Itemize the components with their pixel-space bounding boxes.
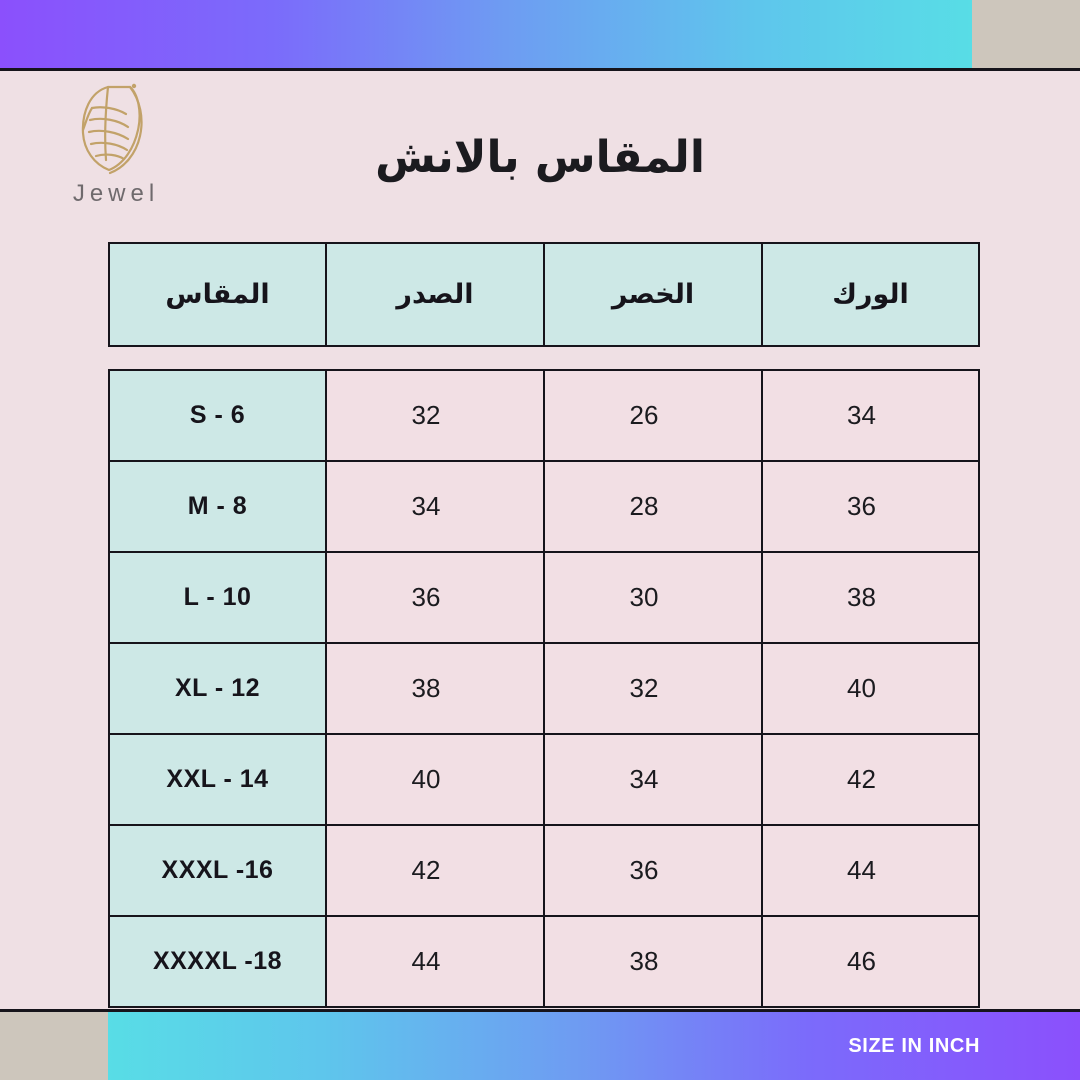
cell-hip-value: 40 [847, 673, 876, 704]
top-gradient-bar [0, 0, 972, 68]
cell-waist-value: 28 [630, 491, 659, 522]
cell-hip: 42 [762, 734, 979, 825]
cell-chest: 34 [326, 461, 544, 552]
cell-waist: 30 [544, 552, 762, 643]
cell-chest: 42 [326, 825, 544, 916]
size-chart-canvas: Jewel المقاس بالانش المقاس الصدر الخصر ا… [0, 0, 1080, 1080]
bottom-gradient-bar: SIZE IN INCH [108, 1012, 1080, 1080]
table-row: XXXXL -18 44 38 46 [109, 916, 979, 1007]
cell-chest-value: 36 [412, 582, 441, 613]
cell-chest-value: 38 [412, 673, 441, 704]
table-row: S - 6 32 26 34 [109, 370, 979, 461]
cell-chest-value: 34 [412, 491, 441, 522]
cell-hip-value: 44 [847, 855, 876, 886]
top-divider-rule [0, 68, 1080, 71]
cell-hip-value: 36 [847, 491, 876, 522]
cell-hip-value: 46 [847, 946, 876, 977]
cell-waist-value: 38 [630, 946, 659, 977]
cell-waist: 34 [544, 734, 762, 825]
cell-size: S - 6 [109, 370, 326, 461]
cell-waist: 28 [544, 461, 762, 552]
brand-name: Jewel [36, 180, 196, 208]
table-row: L - 10 36 30 38 [109, 552, 979, 643]
cell-chest: 40 [326, 734, 544, 825]
cell-chest: 32 [326, 370, 544, 461]
table-row: M - 8 34 28 36 [109, 461, 979, 552]
header-cell-size: المقاس [109, 243, 326, 346]
cell-waist: 36 [544, 825, 762, 916]
cell-hip: 46 [762, 916, 979, 1007]
table-row: XXXL -16 42 36 44 [109, 825, 979, 916]
cell-waist: 32 [544, 643, 762, 734]
size-chart-header-table: المقاس الصدر الخصر الورك [108, 242, 980, 347]
cell-waist-value: 32 [630, 673, 659, 704]
page-title: المقاس بالانش [0, 132, 1080, 183]
cell-chest-value: 40 [412, 764, 441, 795]
size-chart-body-table: S - 6 32 26 34 M - 8 34 28 36 L - 10 36 … [108, 369, 980, 1008]
cell-size: XXL - 14 [109, 734, 326, 825]
table-row: XXL - 14 40 34 42 [109, 734, 979, 825]
cell-size: XL - 12 [109, 643, 326, 734]
cell-hip-value: 34 [847, 400, 876, 431]
cell-hip: 38 [762, 552, 979, 643]
cell-size: M - 8 [109, 461, 326, 552]
footer-label: SIZE IN INCH [848, 1035, 980, 1058]
cell-size: XXXL -16 [109, 825, 326, 916]
cell-chest: 36 [326, 552, 544, 643]
table-row: XL - 12 38 32 40 [109, 643, 979, 734]
cell-chest: 38 [326, 643, 544, 734]
cell-waist-value: 36 [630, 855, 659, 886]
top-right-beige-block [972, 0, 1080, 68]
table-header-row: المقاس الصدر الخصر الورك [109, 243, 979, 346]
cell-size: L - 10 [109, 552, 326, 643]
cell-hip: 40 [762, 643, 979, 734]
bottom-left-beige-block [0, 1012, 108, 1080]
header-cell-chest: الصدر [326, 243, 544, 346]
header-cell-waist: الخصر [544, 243, 762, 346]
cell-chest: 44 [326, 916, 544, 1007]
cell-hip-value: 42 [847, 764, 876, 795]
cell-chest-value: 44 [412, 946, 441, 977]
cell-hip: 34 [762, 370, 979, 461]
cell-size: XXXXL -18 [109, 916, 326, 1007]
cell-chest-value: 42 [412, 855, 441, 886]
cell-chest-value: 32 [412, 400, 441, 431]
cell-waist-value: 30 [630, 582, 659, 613]
cell-waist: 38 [544, 916, 762, 1007]
cell-hip: 36 [762, 461, 979, 552]
cell-hip: 44 [762, 825, 979, 916]
cell-hip-value: 38 [847, 582, 876, 613]
cell-waist-value: 34 [630, 764, 659, 795]
cell-waist: 26 [544, 370, 762, 461]
cell-waist-value: 26 [630, 400, 659, 431]
header-cell-hip: الورك [762, 243, 979, 346]
